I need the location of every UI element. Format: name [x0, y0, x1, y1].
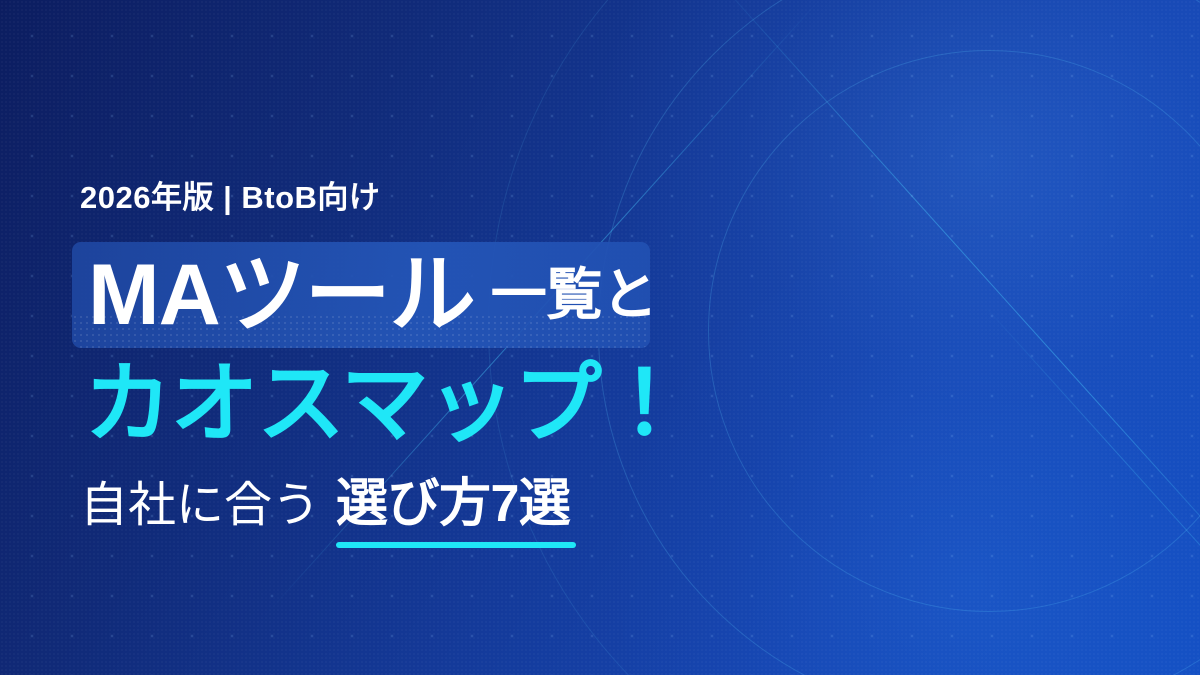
headline-line-2: カオスマップ！ — [84, 352, 687, 456]
subtitle-accent-wrap: 選び方7選 — [336, 472, 570, 536]
subtitle-accent-text: 選び方7選 — [336, 475, 570, 533]
subtitle-line: 自社に合う 選び方7選 — [80, 472, 570, 538]
hero-content: 2026年版 | BtoB向け MAツール 一覧と カオスマップ！ 自社に合う … — [72, 0, 852, 675]
hero-banner: 2026年版 | BtoB向け MAツール 一覧と カオスマップ！ 自社に合う … — [0, 0, 1200, 675]
headline-secondary-text: 一覧と — [491, 242, 658, 348]
subtitle-underline-decor — [336, 542, 576, 548]
headline-highlight-text: MAツール — [72, 242, 475, 348]
diagonal-line-c-decor — [979, 300, 1200, 675]
eyebrow-label: 2026年版 | BtoB向け — [80, 172, 380, 217]
headline-line-1: MAツール 一覧と — [72, 242, 657, 348]
subtitle-plain-text: 自社に合う — [80, 474, 320, 538]
